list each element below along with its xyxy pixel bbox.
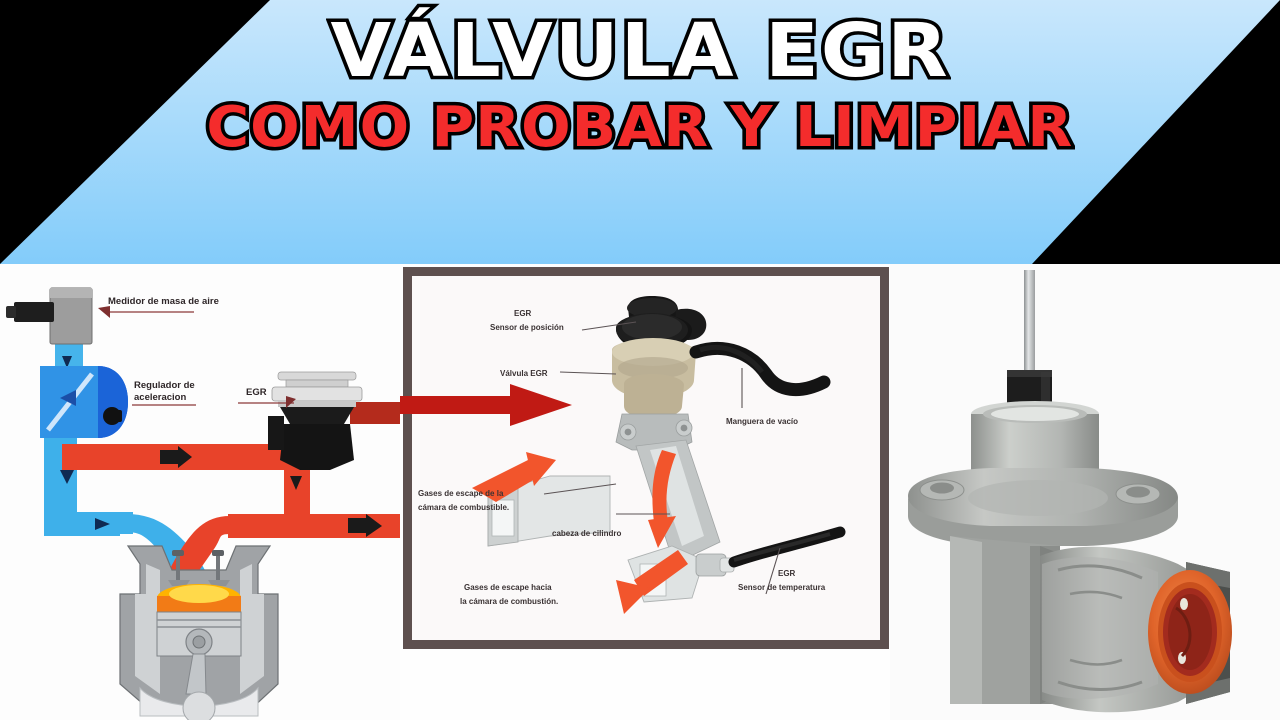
connector-pin-1 [1180,598,1188,610]
label-exhaust-to-chamber-line1: Gases de escape hacia [464,583,552,592]
label-exhaust-from-chamber-line1: Gases de escape de la [418,489,504,498]
label-egr: EGR [246,387,267,398]
image-strip: Medidor de masa de aire Regulador de ace… [0,264,1280,720]
label-position-sensor-line1: EGR [514,309,532,318]
label-temp-sensor-line2: Sensor de temperatura [738,583,826,592]
label-vacuum-hose: Manguera de vacío [726,417,798,426]
egr-valve-cutaway-body [488,296,720,602]
label-exhaust-to-chamber-line2: la cámara de combustión. [460,597,558,606]
label-temp-sensor-line1: EGR [778,569,796,578]
flange-bolt-hole-left [930,483,954,494]
label-throttle-line2: aceleracion [134,392,186,403]
label-exhaust-from-chamber-line2: cámara de combustible. [418,503,509,512]
panel-egr-valve-photo [890,264,1280,720]
egr-valve-photo-svg [890,264,1280,720]
page-subtitle: COMO PROBAR Y LIMPIAR [207,100,1074,156]
maf-connector [14,302,54,322]
flange-bolt-hole-right [1126,487,1150,498]
panel-egr-cutaway: EGR Sensor de posición Válvula EGR Mangu… [400,264,890,720]
cylinder-piston-assembly [120,546,278,720]
panel-engine-schematic: Medidor de masa de aire Regulador de ace… [0,264,400,720]
label-cylinder-head: cabeza de cilindro [552,529,621,538]
engine-egr-schematic-svg: Medidor de masa de aire Regulador de ace… [0,264,400,720]
label-throttle-line1: Regulador de [134,380,195,391]
banner-text-block: VÁLVULA EGR COMO PROBAR Y LIMPIAR [0,0,1280,264]
big-red-arrow [400,384,572,426]
banner: VÁLVULA EGR COMO PROBAR Y LIMPIAR [0,0,1280,264]
valve-shaft [1024,270,1035,370]
page-title: VÁLVULA EGR [330,14,949,88]
egr-cutaway-svg: EGR Sensor de posición Válvula EGR Mangu… [400,264,890,720]
label-position-sensor-line2: Sensor de posición [490,323,564,332]
poster-root: VÁLVULA EGR COMO PROBAR Y LIMPIAR [0,0,1280,720]
label-maf: Medidor de masa de aire [108,296,219,307]
label-egr-valve: Válvula EGR [500,369,548,378]
